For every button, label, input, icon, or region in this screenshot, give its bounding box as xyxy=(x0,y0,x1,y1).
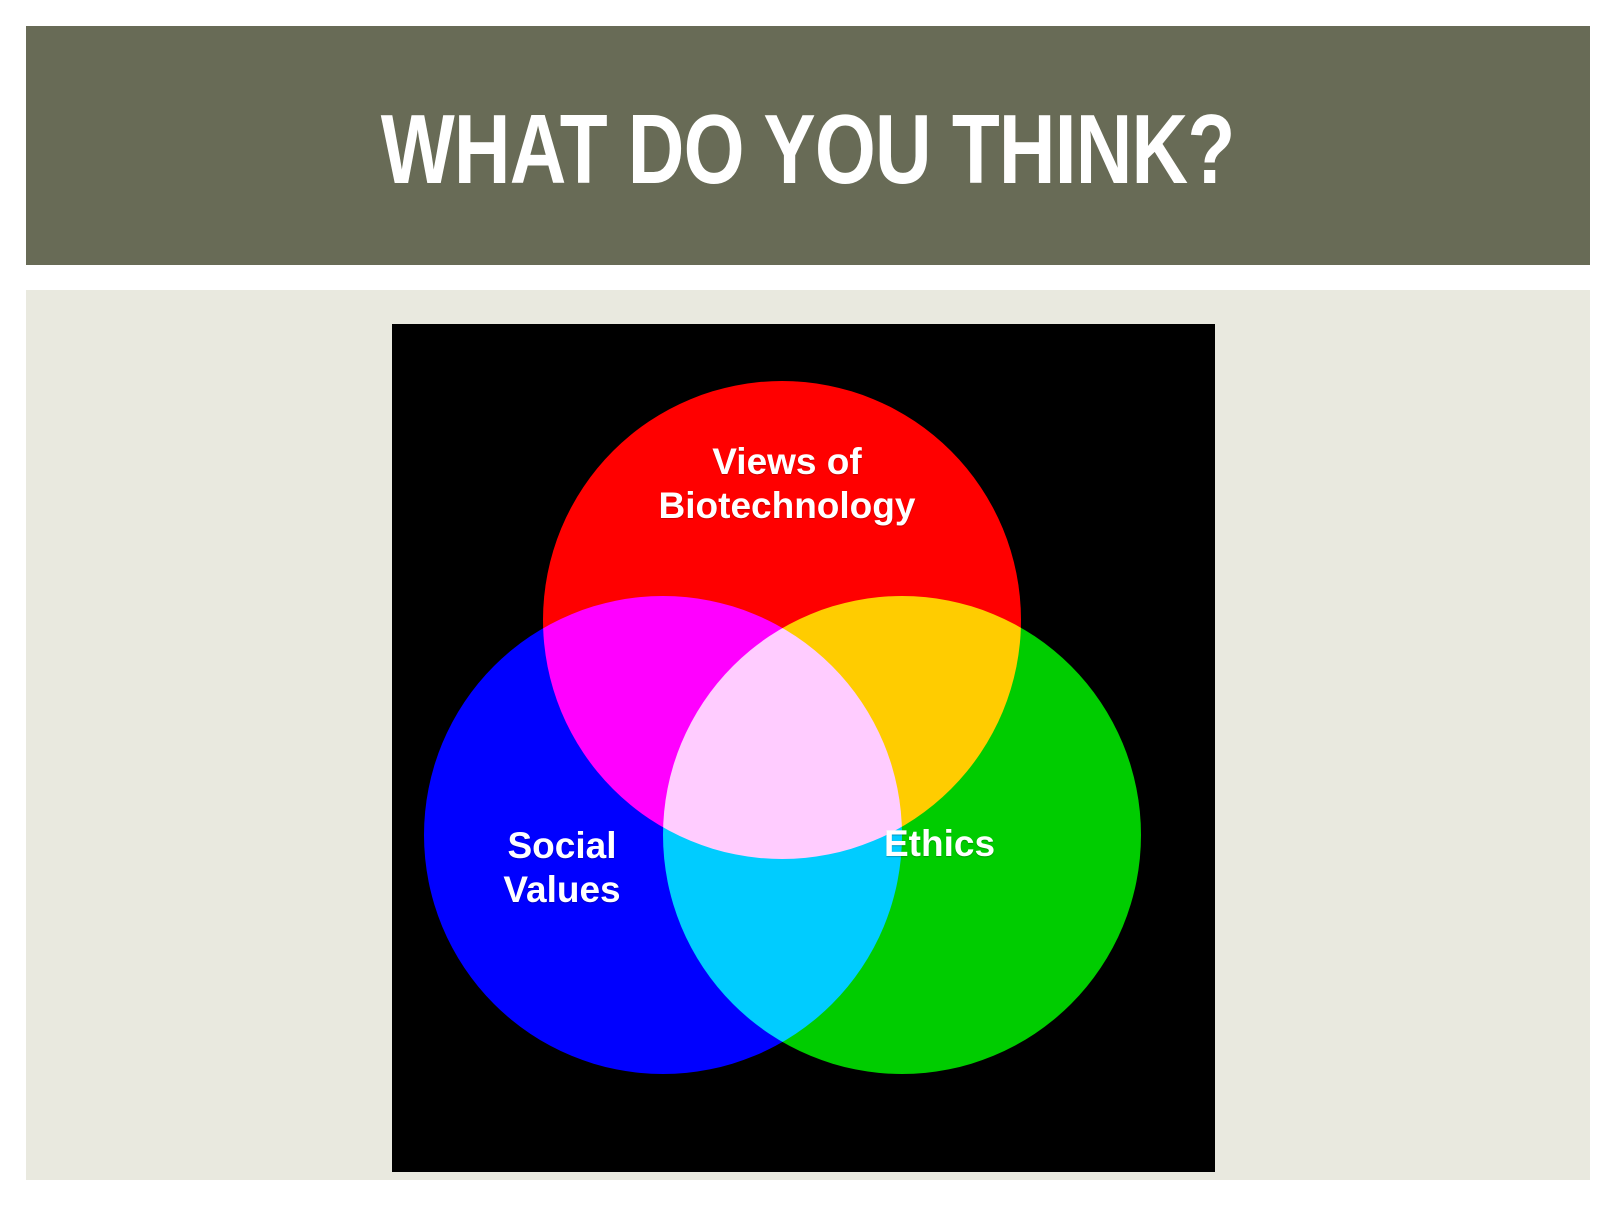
presentation-slide: WHAT DO YOU THINK? Views of Biotechnolog… xyxy=(0,0,1620,1215)
page-title: WHAT DO YOU THINK? xyxy=(381,100,1235,198)
venn-diagram-image: Views of Biotechnology Social Values Eth… xyxy=(392,324,1215,1172)
slide-title-band: WHAT DO YOU THINK? xyxy=(26,26,1590,265)
venn-diagram-stage xyxy=(392,324,1215,1172)
slide-content-panel: Views of Biotechnology Social Values Eth… xyxy=(26,290,1590,1180)
venn-circle-ethics xyxy=(663,596,1141,1074)
